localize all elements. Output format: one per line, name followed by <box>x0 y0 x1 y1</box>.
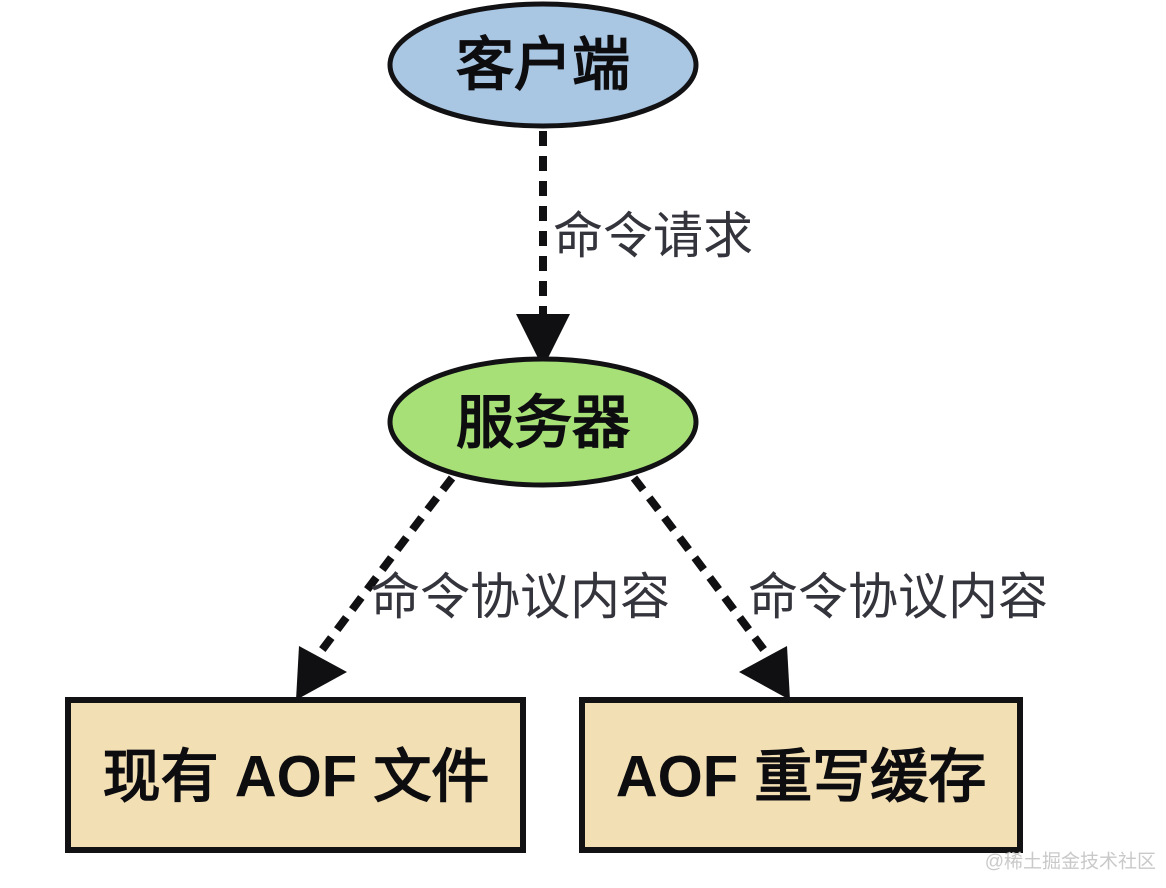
watermark: @稀土掘金技术社区 <box>985 851 1156 873</box>
node-aof-buffer-label: AOF 重写缓存 <box>616 745 987 810</box>
node-aof-file-label: 现有 AOF 文件 <box>103 745 490 810</box>
edge-label-protocol-content-left: 命令协议内容 <box>370 569 670 625</box>
edge-label-command-request: 命令请求 <box>553 208 753 264</box>
edge-server-to-aof-file-arrowhead <box>296 646 347 700</box>
node-server[interactable]: 服务器 <box>390 359 696 485</box>
node-client[interactable]: 客户端 <box>390 4 696 126</box>
edge-server-to-aof-buffer-arrowhead <box>739 646 790 700</box>
node-aof-buffer[interactable]: AOF 重写缓存 <box>582 700 1020 850</box>
node-aof-file[interactable]: 现有 AOF 文件 <box>68 700 523 850</box>
diagram-canvas: 客户端 服务器 现有 AOF 文件 AOF 重写缓存 命令请求 命令协议内容 命… <box>0 0 1166 888</box>
edge-label-protocol-content-right: 命令协议内容 <box>748 569 1048 625</box>
flow-diagram: 客户端 服务器 现有 AOF 文件 AOF 重写缓存 命令请求 命令协议内容 命… <box>0 0 1166 888</box>
node-client-label: 客户端 <box>456 33 630 98</box>
node-server-label: 服务器 <box>456 391 631 456</box>
